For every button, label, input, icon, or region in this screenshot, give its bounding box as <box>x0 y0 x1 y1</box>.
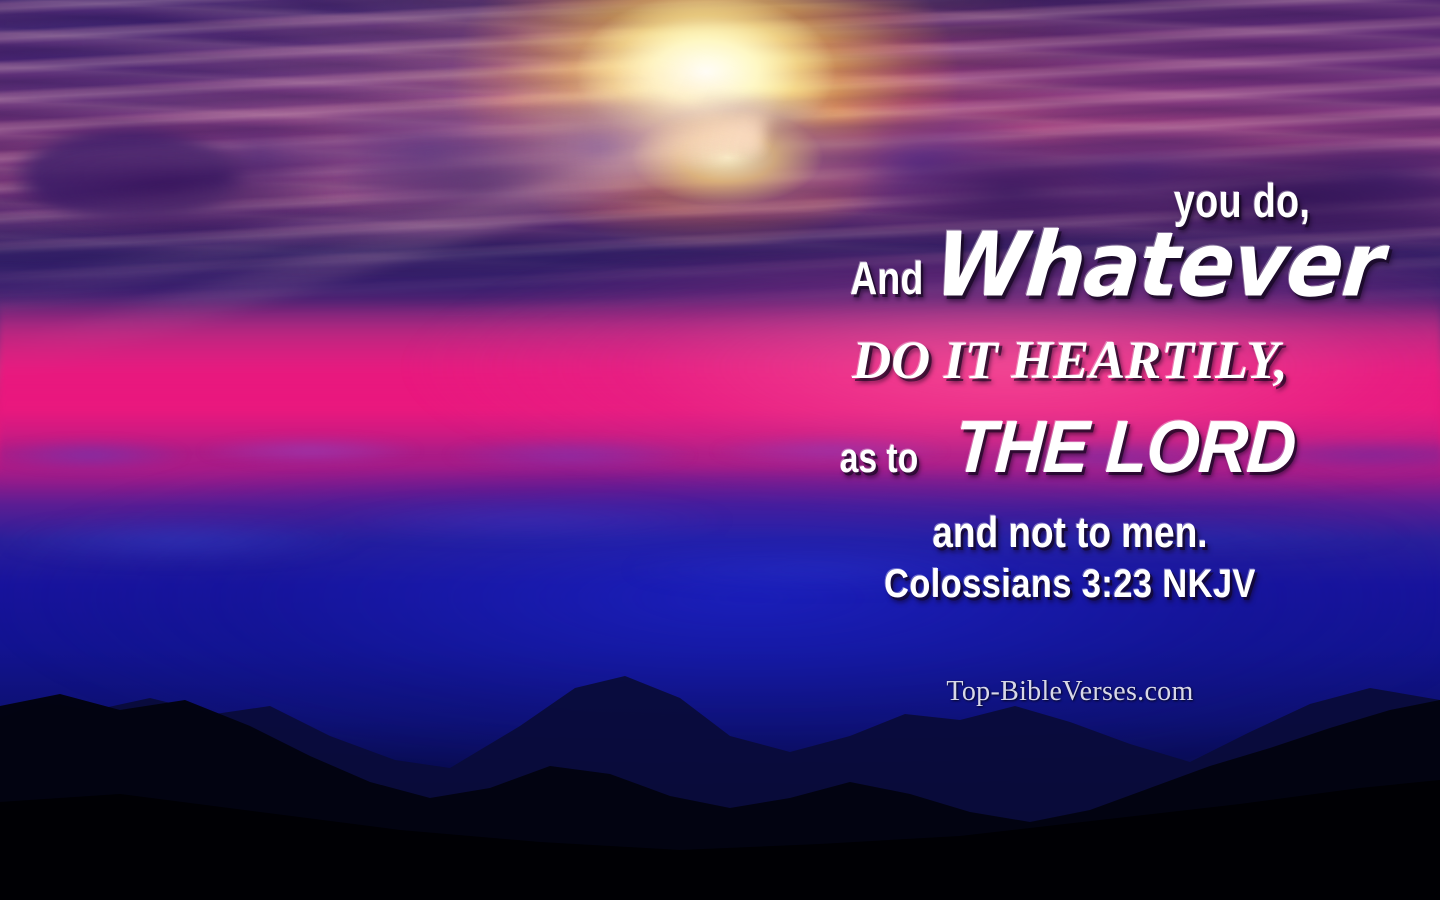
verse-word-and: And <box>850 250 923 306</box>
verse-word-the-lord: THE LORD <box>952 408 1298 486</box>
verse-text-block: you do, And Whatever DO IT HEARTILY, as … <box>820 176 1320 607</box>
verse-line-as-to-the-lord: as to THE LORD <box>820 408 1320 493</box>
verse-line-and-whatever: And Whatever <box>820 222 1320 308</box>
verse-line-do-it-heartily: DO IT HEARTILY, <box>820 322 1320 398</box>
site-attribution: Top-BibleVerses.com <box>820 676 1320 708</box>
verse-word-whatever: Whatever <box>931 219 1386 310</box>
wallpaper-scene: you do, And Whatever DO IT HEARTILY, as … <box>0 0 1440 900</box>
verse-word-as-to: as to <box>840 423 918 493</box>
foreground-ridge <box>0 750 1440 900</box>
verse-line-and-not-to-men: and not to men. <box>860 507 1280 559</box>
verse-reference: Colossians 3:23 NKJV <box>855 561 1285 607</box>
